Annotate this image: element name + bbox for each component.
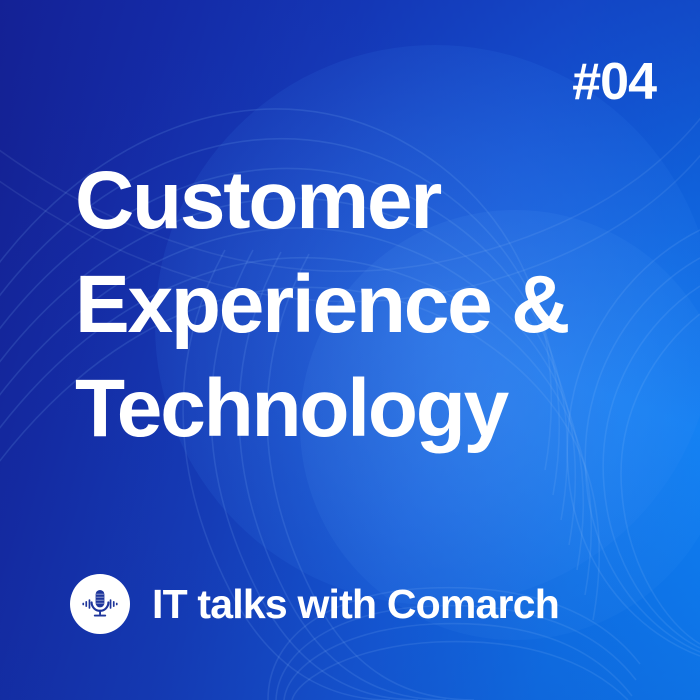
- podcast-brand-name: IT talks with Comarch: [152, 581, 559, 628]
- title-line-2: Experience &: [75, 264, 675, 346]
- episode-title: Customer Experience & Technology: [75, 160, 675, 450]
- podcast-episode-cover: #04 Customer Experience & Technology: [0, 0, 700, 700]
- podcast-brand-row: IT talks with Comarch: [70, 574, 559, 634]
- episode-number: #04: [572, 56, 656, 108]
- title-line-1: Customer: [75, 160, 675, 242]
- microphone-badge: [70, 574, 130, 634]
- microphone-icon: [79, 583, 121, 625]
- title-line-3: Technology: [75, 368, 675, 450]
